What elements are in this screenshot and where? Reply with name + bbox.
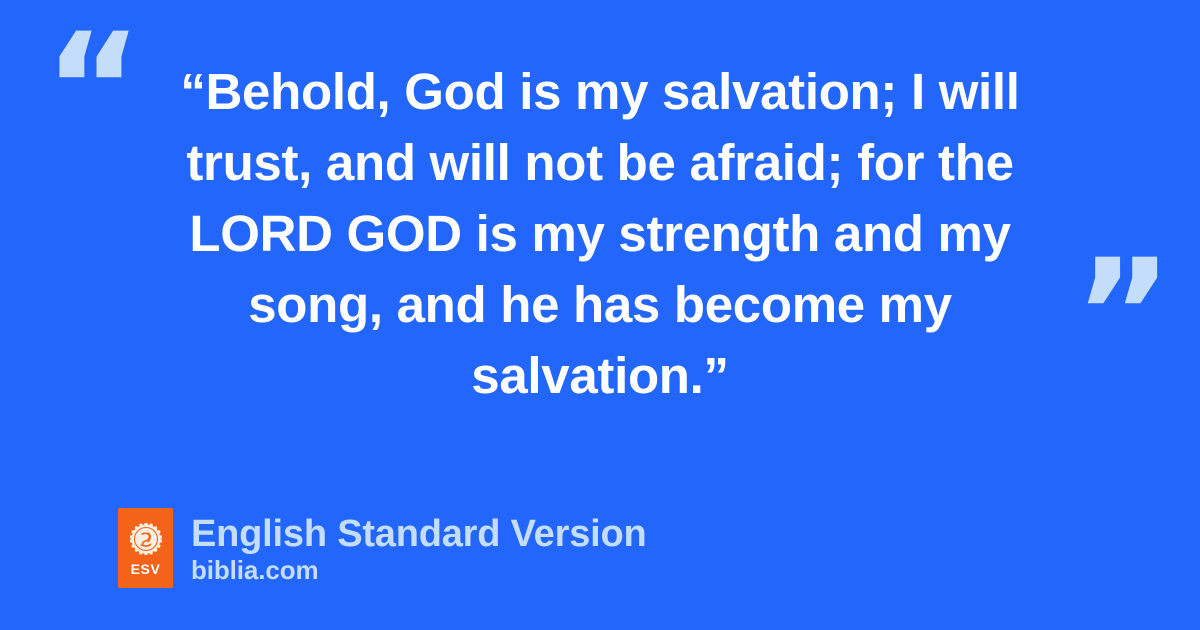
attribution-text: English Standard Version biblia.com <box>191 512 647 585</box>
quote-card: “ ” “Behold, God is my salvation; I will… <box>0 0 1200 630</box>
esv-logo: ESV <box>118 508 173 588</box>
site-url[interactable]: biblia.com <box>191 555 647 585</box>
quote-block: “Behold, God is my salvation; I will tru… <box>130 56 1070 411</box>
opening-quote-decoration-icon: “ <box>44 14 141 164</box>
attribution: ESV English Standard Version biblia.com <box>118 508 647 588</box>
bible-version-name: English Standard Version <box>191 512 647 556</box>
logo-abbreviation: ESV <box>131 562 161 576</box>
seal-medallion-icon <box>130 523 162 555</box>
closing-quote-decoration-icon: ” <box>1074 240 1171 390</box>
quote-text: “Behold, God is my salvation; I will tru… <box>130 56 1070 411</box>
